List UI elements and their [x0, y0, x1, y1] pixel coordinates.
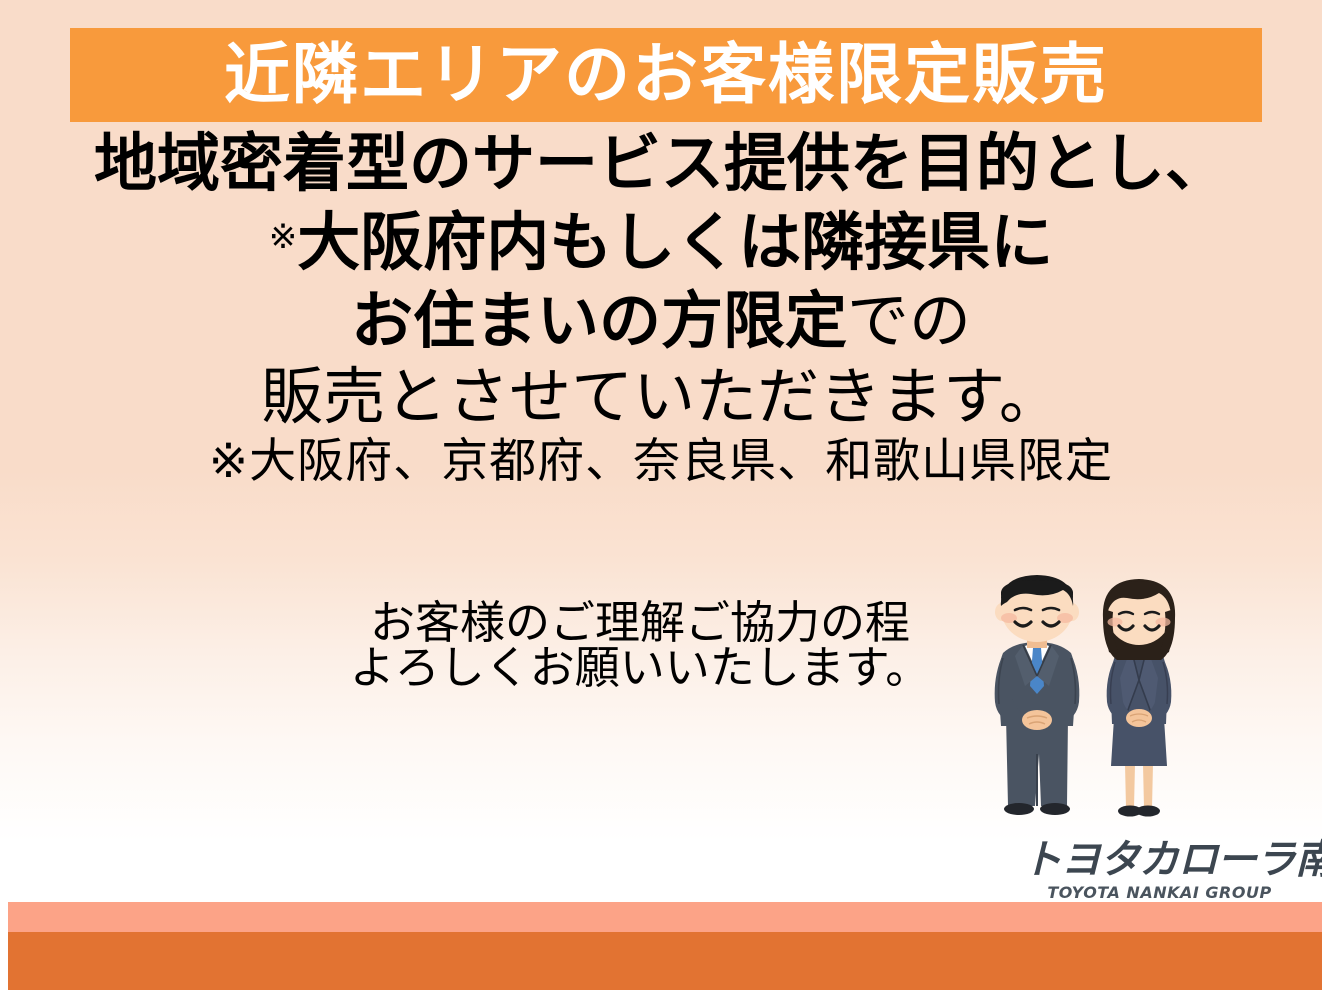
bowing-business-people-illustration: [975, 568, 1200, 843]
footer-bar-dark: [8, 932, 1322, 990]
title-banner: 近隣エリアのお客様限定販売: [70, 28, 1262, 122]
body-line-2: ※大阪府内もしくは隣接県に: [0, 211, 1322, 274]
body-line-3: お住まいの方限定での: [0, 290, 1322, 352]
closing-line-2: よろしくお願いいたします。: [330, 645, 950, 690]
poster-canvas: 近隣エリアのお客様限定販売 地域密着型のサービス提供を目的とし、 ※大阪府内もし…: [0, 0, 1322, 990]
man-figure: [995, 575, 1080, 815]
footer-bar-light: [8, 902, 1322, 932]
closing-line-1: お客様のご理解ご協力の程: [330, 600, 950, 645]
body-line-1: 地域密着型のサービス提供を目的とし、: [0, 132, 1322, 195]
logo-kana-text: トヨタカローラ南海: [1022, 840, 1297, 880]
body-copy-block: 地域密着型のサービス提供を目的とし、 ※大阪府内もしくは隣接県に お住まいの方限…: [0, 132, 1322, 485]
body-line-4: 販売とさせていただきます。: [0, 366, 1322, 428]
body-line-3-suffix: での: [847, 284, 971, 357]
body-line-3-emphasis: お住まいの方限定: [351, 284, 847, 357]
logo-roman-text: TOYOTA NANKAI GROUP: [1022, 885, 1297, 901]
banner-title-text: 近隣エリアのお客様限定販売: [224, 42, 1108, 108]
reference-mark-icon: ※: [269, 217, 298, 257]
company-logo: トヨタカローラ南海 TOYOTA NANKAI GROUP: [1022, 840, 1297, 901]
closing-message: お客様のご理解ご協力の程 よろしくお願いいたします。: [330, 600, 950, 690]
woman-figure: [1103, 579, 1175, 817]
body-line-5-prefecture-note: ※大阪府、京都府、奈良県、和歌山県限定: [0, 438, 1322, 485]
body-line-2-text: 大阪府内もしくは隣接県に: [297, 206, 1053, 279]
